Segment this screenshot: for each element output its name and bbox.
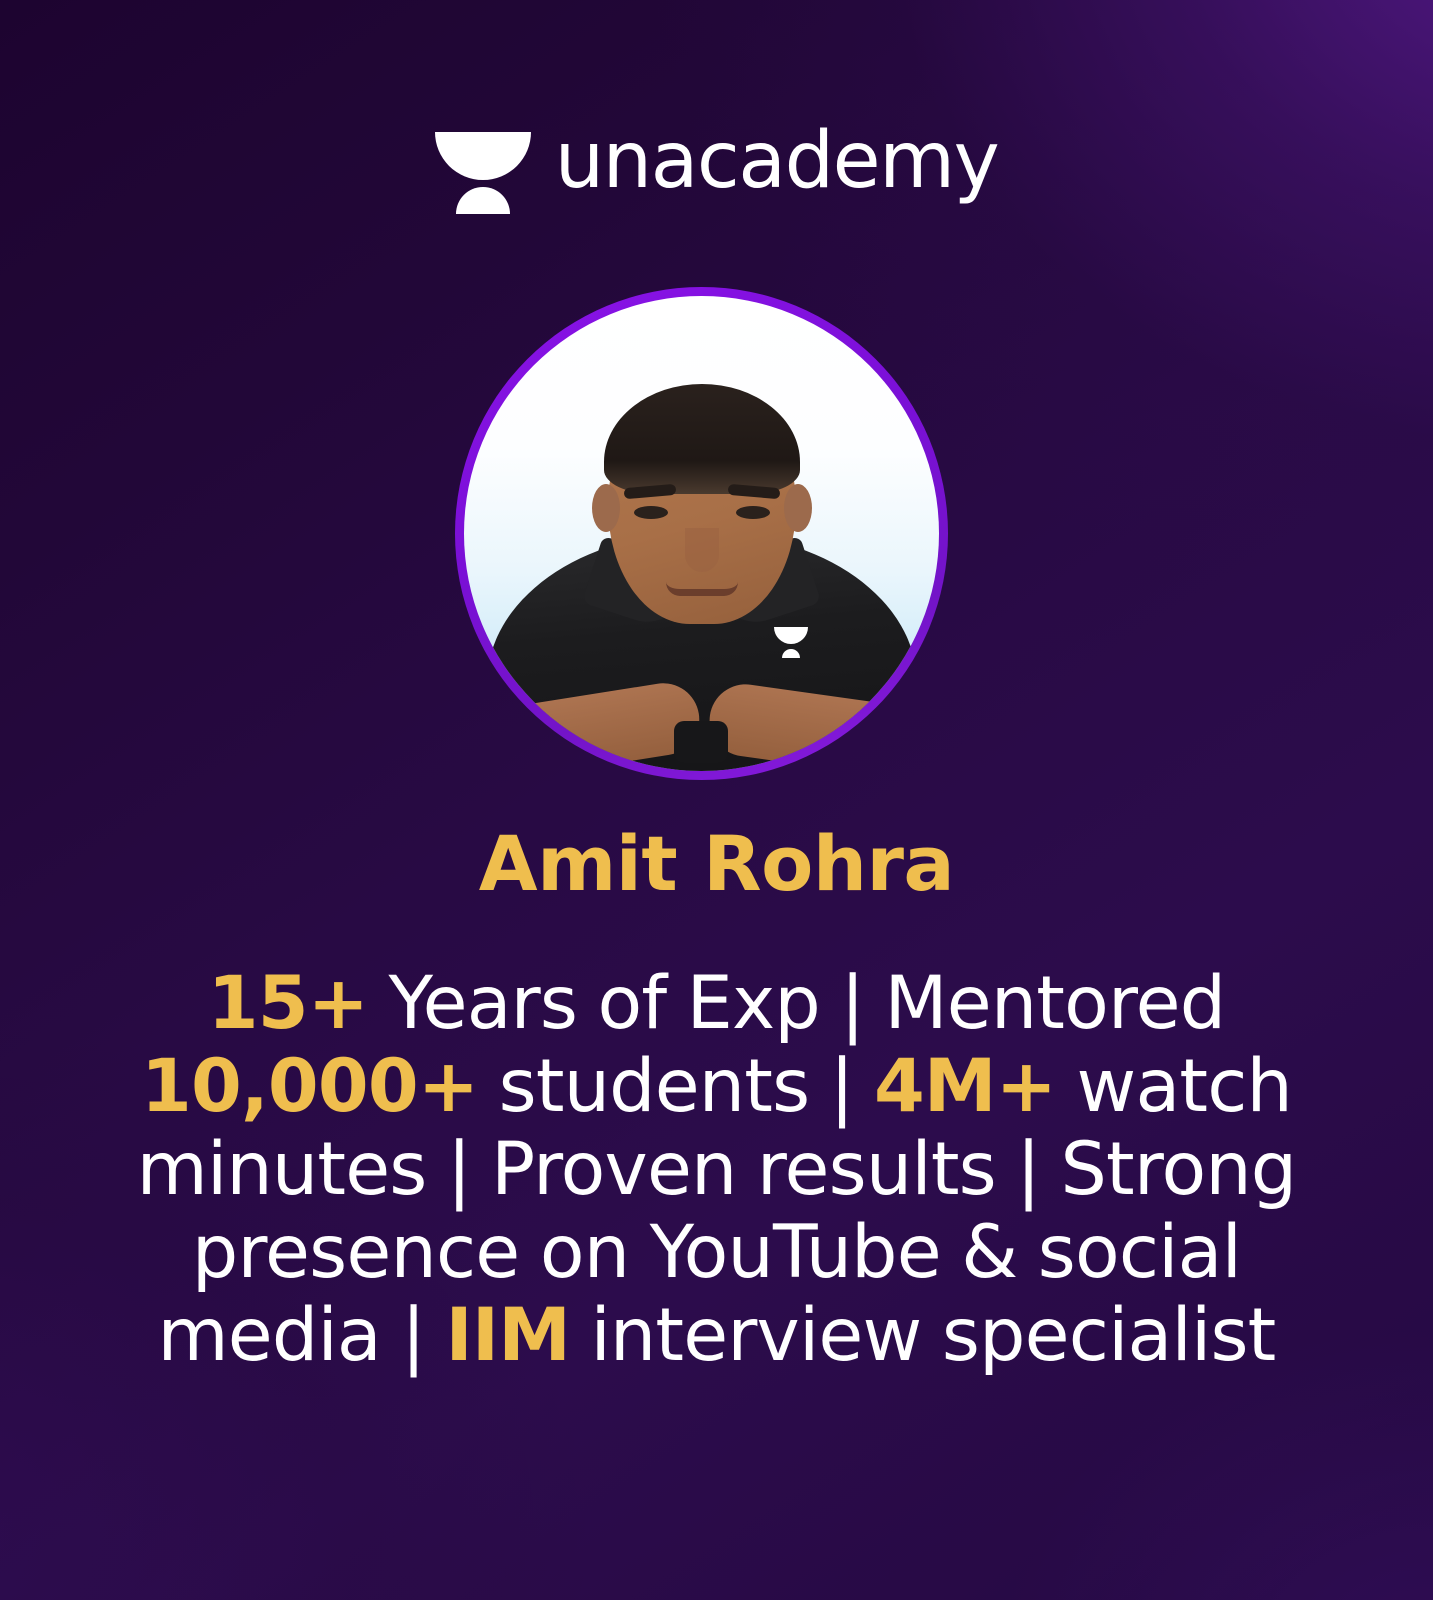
avatar <box>464 296 939 771</box>
credential-text-2: students | <box>478 1044 874 1129</box>
portrait-nose <box>685 528 719 572</box>
educator-name: Amit Rohra <box>0 826 1433 902</box>
brand-wordmark: unacademy <box>555 124 999 198</box>
brand-lockup: unacademy <box>0 118 1433 204</box>
portrait-wristwatch <box>674 721 728 763</box>
credential-students: 10,000+ <box>141 1044 478 1129</box>
portrait-ear-right <box>784 484 812 532</box>
credential-years: 15+ <box>208 961 368 1046</box>
credential-text-1: Years of Exp | Mentored <box>368 961 1225 1046</box>
credential-iim: IIM <box>445 1293 570 1378</box>
educator-credentials: 15+ Years of Exp | Mentored 10,000+ stud… <box>100 962 1333 1377</box>
unacademy-bowl-logo-icon <box>435 118 531 204</box>
credential-text-4: interview specialist <box>570 1293 1275 1378</box>
portrait-eye-left <box>634 506 668 519</box>
avatar-ring <box>455 287 948 780</box>
portrait-mouth <box>666 582 738 596</box>
portrait-ear-left <box>592 484 620 532</box>
portrait-eye-right <box>736 506 770 519</box>
portrait-hair <box>604 384 800 494</box>
shirt-unacademy-logo-icon <box>774 627 808 659</box>
promo-poster: unacademy Amit Rohra <box>0 0 1433 1600</box>
credential-watch-minutes: 4M+ <box>874 1044 1056 1129</box>
